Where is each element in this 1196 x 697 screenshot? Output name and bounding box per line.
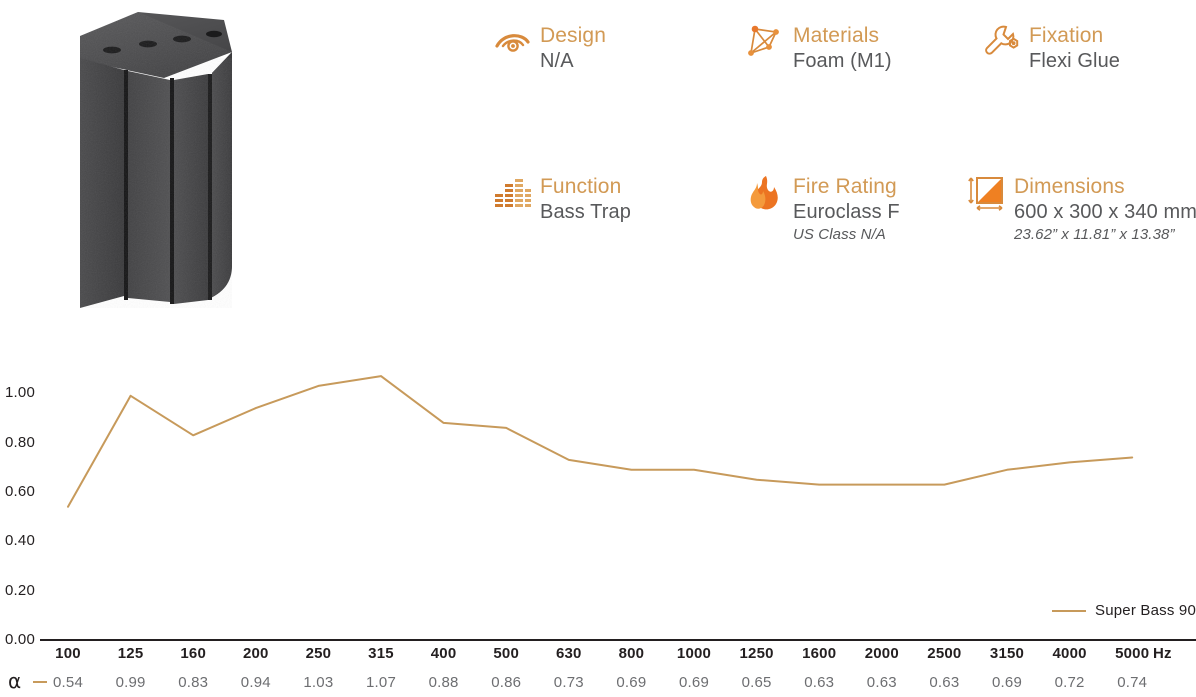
spec-function: Function Bass Trap <box>492 173 631 225</box>
x-axis-tick-label: 315 <box>350 645 412 662</box>
alpha-value-label: 0.69 <box>600 674 662 691</box>
x-axis-tick-label: 125 <box>100 645 162 662</box>
spec-title: Function <box>540 174 631 199</box>
chart-legend: Super Bass 90 <box>1052 602 1196 619</box>
flame-icon <box>745 173 785 213</box>
product-datasheet-page: Design N/A Materials Foam (M1) <box>0 0 1196 697</box>
spec-title: Design <box>540 23 606 48</box>
spec-value: Foam (M1) <box>793 48 892 74</box>
alpha-value-label: 0.74 <box>1101 674 1163 691</box>
alpha-value-label: 0.73 <box>538 674 600 691</box>
x-axis-tick-label: 630 <box>538 645 600 662</box>
alpha-value-label: 0.94 <box>225 674 287 691</box>
alpha-value-label: 0.63 <box>913 674 975 691</box>
x-axis-tick-label: 400 <box>413 645 475 662</box>
eye-icon <box>492 22 532 62</box>
x-axis-unit-label: Hz <box>1153 645 1172 662</box>
x-axis-tick-label: 100 <box>37 645 99 662</box>
y-axis-tick-label: 0.20 <box>0 582 35 599</box>
x-axis-tick-label: 500 <box>475 645 537 662</box>
chart-plot-area <box>0 326 1196 697</box>
spec-title: Materials <box>793 23 892 48</box>
foam-bass-trap-illustration <box>72 8 240 308</box>
x-axis-tick-label: 250 <box>287 645 349 662</box>
alpha-value-label: 0.88 <box>413 674 475 691</box>
alpha-value-label: 0.63 <box>851 674 913 691</box>
spec-value: Bass Trap <box>540 199 631 225</box>
x-axis-tick-label: 1250 <box>726 645 788 662</box>
spec-value: N/A <box>540 48 606 74</box>
wrench-icon <box>981 22 1021 62</box>
x-axis-tick-label: 1600 <box>788 645 850 662</box>
alpha-value-label: 0.99 <box>100 674 162 691</box>
alpha-value-label: 0.72 <box>1039 674 1101 691</box>
spec-subvalue: US Class N/A <box>793 225 900 244</box>
spec-value: 600 x 300 x 340 mm <box>1014 199 1196 225</box>
x-axis-tick-label: 3150 <box>976 645 1038 662</box>
equalizer-icon <box>492 173 532 213</box>
alpha-value-label: 1.07 <box>350 674 412 691</box>
y-axis-tick-label: 0.40 <box>0 532 35 549</box>
alpha-value-label: 0.69 <box>976 674 1038 691</box>
y-axis-tick-label: 0.80 <box>0 434 35 451</box>
x-axis-tick-label: 2500 <box>913 645 975 662</box>
product-image <box>72 8 240 308</box>
x-axis-tick-label: 4000 <box>1039 645 1101 662</box>
legend-label: Super Bass 90 <box>1095 602 1196 619</box>
spec-materials: Materials Foam (M1) <box>745 22 892 74</box>
alpha-value-label: 0.65 <box>726 674 788 691</box>
x-axis-tick-label: 1000 <box>663 645 725 662</box>
spec-title: Fixation <box>1029 23 1120 48</box>
materials-icon <box>745 22 785 62</box>
x-axis-tick-label: 800 <box>600 645 662 662</box>
series-line-super-bass-90 <box>68 376 1132 507</box>
spec-design: Design N/A <box>492 22 606 74</box>
spec-title: Fire Rating <box>793 174 900 199</box>
y-axis-tick-label: 0.60 <box>0 483 35 500</box>
alpha-value-label: 0.63 <box>788 674 850 691</box>
alpha-value-label: 1.03 <box>287 674 349 691</box>
x-axis-tick-label: 200 <box>225 645 287 662</box>
spec-fire-rating: Fire Rating Euroclass F US Class N/A <box>745 173 900 244</box>
y-axis-symbol-label: α <box>8 669 21 693</box>
x-axis-tick-label: 2000 <box>851 645 913 662</box>
spec-subvalue: 23.62” x 11.81” x 13.38” <box>1014 225 1196 244</box>
spec-value: Euroclass F <box>793 199 900 225</box>
legend-line-swatch <box>1052 610 1086 612</box>
alpha-value-label: 0.86 <box>475 674 537 691</box>
alpha-row-line-swatch <box>33 681 47 683</box>
spec-fixation: Fixation Flexi Glue <box>981 22 1120 74</box>
dimensions-icon <box>966 173 1006 213</box>
spec-title: Dimensions <box>1014 174 1196 199</box>
spec-value: Flexi Glue <box>1029 48 1120 74</box>
y-axis-tick-label: 1.00 <box>0 384 35 401</box>
y-axis-tick-label: 0.00 <box>0 631 35 648</box>
spec-dimensions: Dimensions 600 x 300 x 340 mm 23.62” x 1… <box>966 173 1196 244</box>
x-axis-tick-label: 160 <box>162 645 224 662</box>
alpha-value-label: 0.69 <box>663 674 725 691</box>
absorption-coefficient-chart: 0.000.200.400.600.801.00 100125160200250… <box>0 326 1196 697</box>
alpha-value-label: 0.83 <box>162 674 224 691</box>
